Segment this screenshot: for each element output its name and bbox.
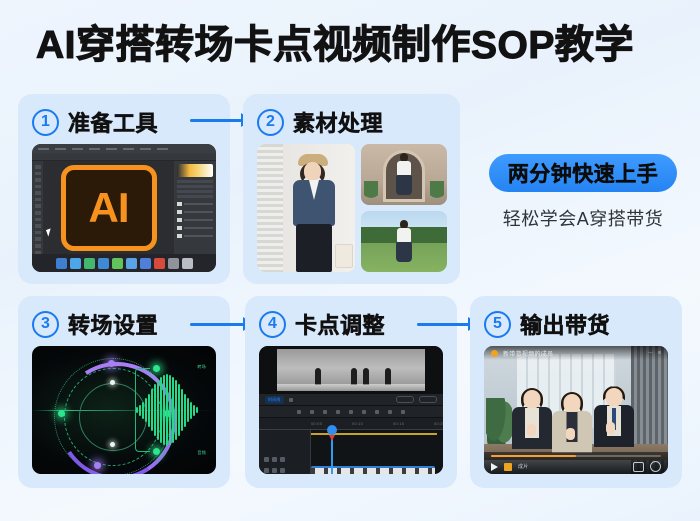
playhead-knob[interactable] <box>327 425 337 435</box>
presenter-right <box>592 388 636 452</box>
promo-subtitle: 轻松学会A穿搭带货 <box>489 205 677 231</box>
bracket-node-bottom <box>153 448 160 455</box>
subtitles-icon[interactable] <box>633 462 644 472</box>
timeline-tag: 时间线 <box>265 396 284 404</box>
more-icon[interactable]: ≡ <box>658 350 661 356</box>
photo-studio-denim-look <box>257 144 355 272</box>
control-button-row[interactable]: 成片 <box>491 461 661 472</box>
arc-handle-top[interactable] <box>108 360 115 367</box>
bracket-node-top <box>153 365 160 372</box>
editor-icon-row[interactable] <box>259 406 443 418</box>
toolbar-toggle[interactable] <box>419 396 437 403</box>
app-panels <box>174 161 216 254</box>
step-4-thumbnail[interactable]: 时间线 00:05 00:10 00:15 00:20 <box>259 346 443 474</box>
step-title-3: 转场设置 <box>68 308 158 340</box>
presenter-center <box>552 394 592 452</box>
arrow-shaft <box>417 323 469 326</box>
photo-side-column <box>361 144 447 272</box>
node-top <box>110 380 115 385</box>
face-shape <box>524 390 541 409</box>
share-icon[interactable]: ⋯ <box>648 350 653 356</box>
node-label-bottom: 音频 <box>197 450 206 456</box>
photo-lawn-look <box>361 211 447 272</box>
right-controls[interactable] <box>633 461 661 472</box>
track-header-video[interactable] <box>259 456 310 463</box>
app-canvas: AI <box>43 161 174 254</box>
time-label: 成片 <box>518 463 528 470</box>
app-menubar <box>32 144 216 153</box>
track-headers[interactable] <box>259 430 311 474</box>
ruler-mark: 00:15 <box>393 421 404 426</box>
audio-waveform <box>136 374 198 446</box>
step-5-header: 5 输出带货 <box>484 308 610 340</box>
step-3-thumbnail[interactable]: 转场 音频 <box>32 346 216 474</box>
node-left <box>58 410 65 417</box>
video-editor-window: 时间线 00:05 00:10 00:15 00:20 <box>259 346 443 474</box>
step-number-badge-1: 1 <box>32 109 59 136</box>
progress-bar[interactable] <box>491 455 661 457</box>
blinds-backdrop <box>257 144 283 272</box>
app-options-bar <box>32 153 216 161</box>
step-number-badge-4: 4 <box>259 311 286 338</box>
step-number-badge-2: 2 <box>257 109 284 136</box>
thumbs-up-icon <box>606 422 615 434</box>
skirt-shape <box>396 175 412 195</box>
player-title: 新带货视频的成员 <box>503 349 553 358</box>
step-card-2[interactable]: 2 素材处理 <box>243 94 460 284</box>
app-body: AI <box>32 161 216 254</box>
arc-handle-bottom[interactable] <box>94 462 101 469</box>
layer-row <box>177 217 213 222</box>
gradient-swatch <box>177 164 213 177</box>
os-dock[interactable] <box>32 254 216 272</box>
layer-row <box>177 201 213 206</box>
video-clip[interactable] <box>311 466 435 474</box>
ruler-mark: 00:20 <box>434 421 443 426</box>
step-card-5[interactable]: 5 输出带货 <box>470 296 682 488</box>
arrow-shaft <box>190 323 244 326</box>
arrow-shaft <box>190 119 242 122</box>
photo-outdoor-arch-look <box>361 144 447 205</box>
ruler-mark: 00:05 <box>311 421 322 426</box>
step-1-header: 1 准备工具 <box>32 106 158 138</box>
app-badge-icon <box>491 350 498 357</box>
app-toolbar[interactable] <box>32 161 43 254</box>
step-title-4: 卡点调整 <box>295 308 385 340</box>
filmstrip-thumbnails <box>311 468 435 474</box>
editor-toolbar[interactable]: 时间线 <box>259 394 443 406</box>
play-icon[interactable] <box>491 463 498 471</box>
model-figure <box>394 220 414 266</box>
player-controls[interactable]: 成片 <box>484 452 668 474</box>
player-title-bar: 新带货视频的成员 ⋯ ≡ <box>484 346 668 360</box>
step-title-5: 输出带货 <box>520 308 610 340</box>
step-2-header: 2 素材处理 <box>257 106 383 138</box>
step-3-header: 3 转场设置 <box>32 308 158 340</box>
playhead[interactable] <box>331 430 333 474</box>
step-5-thumbnail[interactable]: 新带货视频的成员 ⋯ ≡ 成片 <box>484 346 668 474</box>
layer-row <box>177 225 213 230</box>
presenter-left <box>510 390 554 452</box>
model-figure <box>394 153 414 199</box>
skirt-shape <box>396 242 412 262</box>
node-label-top: 转场 <box>197 364 206 370</box>
layer-row <box>177 233 213 238</box>
panel-rows <box>177 180 213 198</box>
potted-plant-right <box>430 181 444 203</box>
toolbar-toggle[interactable] <box>396 396 414 403</box>
playhead-marker-icon <box>329 435 335 441</box>
timeline-area[interactable] <box>259 430 443 474</box>
preview-monitor <box>259 346 443 394</box>
infographic-page: AI穿搭转场卡点视频制作SOP教学 1 准备工具 AI <box>0 0 700 521</box>
step-number-badge-3: 3 <box>32 311 59 338</box>
step-4-header: 4 卡点调整 <box>259 308 385 340</box>
track-header-audio[interactable] <box>259 467 310 474</box>
illustrator-window: AI <box>32 144 216 272</box>
step-2-thumbnail[interactable] <box>257 144 447 272</box>
preview-frame <box>277 349 425 391</box>
handbag-shape <box>335 244 353 268</box>
jacket-shape <box>293 180 335 226</box>
node-bottom <box>110 442 115 447</box>
layer-row <box>177 209 213 214</box>
step-title-2: 素材处理 <box>293 106 383 138</box>
timeline-ruler[interactable]: 00:05 00:10 00:15 00:20 <box>259 418 443 430</box>
progress-fill <box>491 455 576 457</box>
illustrator-logo: AI <box>61 165 157 251</box>
thumbs-up-icon <box>527 424 536 436</box>
step-number-badge-5: 5 <box>484 311 511 338</box>
video-player[interactable]: 新带货视频的成员 ⋯ ≡ 成片 <box>484 346 668 474</box>
fashion-photo-grid <box>257 144 447 272</box>
step-1-thumbnail[interactable]: AI <box>32 144 216 272</box>
pants-shape <box>296 224 332 272</box>
settings-icon[interactable] <box>650 461 661 472</box>
face-shape <box>606 388 623 407</box>
step-title-1: 准备工具 <box>68 106 158 138</box>
thumbs-up-icon <box>566 428 575 440</box>
transition-visualizer: 转场 音频 <box>32 346 216 474</box>
face-shape <box>304 162 321 181</box>
ruler-mark: 00:10 <box>352 421 363 426</box>
next-icon[interactable] <box>504 463 512 471</box>
promo-badge: 两分钟快速上手 <box>489 154 677 192</box>
page-title: AI穿搭转场卡点视频制作SOP教学 <box>36 22 634 70</box>
face-shape <box>564 394 581 413</box>
cursor-icon <box>46 228 53 236</box>
potted-plant-left <box>364 181 378 203</box>
